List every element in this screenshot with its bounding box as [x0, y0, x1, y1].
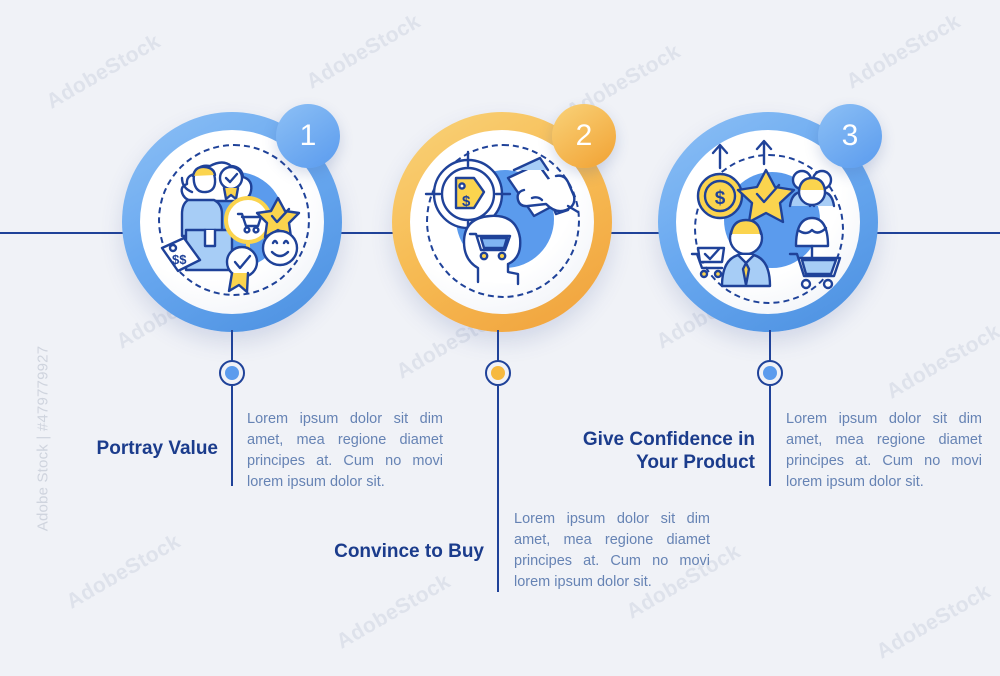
svg-text:$: $: [462, 193, 471, 210]
adobe-stock-watermark: Adobe Stock | #479779927: [35, 324, 52, 554]
customer-confidence-icon: $: [686, 134, 850, 300]
step-2-stem-upper: [497, 330, 499, 362]
watermark-tile: AdobeStock: [843, 10, 965, 95]
step-1-stem-lower: [231, 386, 233, 486]
watermark-tile: AdobeStock: [873, 580, 995, 665]
purchase-decision-icon: $: [420, 142, 584, 302]
step-2-connector-dot[interactable]: [485, 360, 511, 386]
step-3-connector-dot[interactable]: [757, 360, 783, 386]
svg-text:$: $: [715, 188, 726, 209]
step-1-number-badge: 1: [276, 104, 340, 168]
step-3-title: Give Confidence in Your Product: [545, 428, 755, 474]
step-3-stem-upper: [769, 330, 771, 362]
watermark-tile: AdobeStock: [303, 10, 425, 95]
step-2-stem-lower: [497, 386, 499, 592]
step-1-number: 1: [300, 119, 317, 153]
step-3-stem-lower: [769, 386, 771, 486]
step-1-connector-dot[interactable]: [219, 360, 245, 386]
step-2-number-badge: 2: [552, 104, 616, 168]
step-1-stem-upper: [231, 330, 233, 362]
infographic-canvas: AdobeStock AdobeStock AdobeStock AdobeSt…: [0, 0, 1000, 676]
step-1-description: Lorem ipsum dolor sit dim amet, mea regi…: [247, 409, 443, 493]
step-2-number: 2: [576, 119, 593, 153]
step-2-description: Lorem ipsum dolor sit dim amet, mea regi…: [514, 509, 710, 593]
watermark-tile: AdobeStock: [883, 320, 1000, 405]
step-3-number-badge: 3: [818, 104, 882, 168]
step-2-title: Convince to Buy: [300, 540, 484, 563]
step-1-title: Portray Value: [82, 437, 218, 460]
value-perception-icon: $$: [152, 140, 312, 300]
watermark-tile: AdobeStock: [333, 570, 455, 655]
step-3-number: 3: [842, 119, 859, 153]
step-3-description: Lorem ipsum dolor sit dim amet, mea regi…: [786, 409, 982, 493]
watermark-tile: AdobeStock: [43, 30, 165, 115]
svg-text:$$: $$: [172, 252, 187, 267]
watermark-tile: AdobeStock: [63, 530, 185, 615]
